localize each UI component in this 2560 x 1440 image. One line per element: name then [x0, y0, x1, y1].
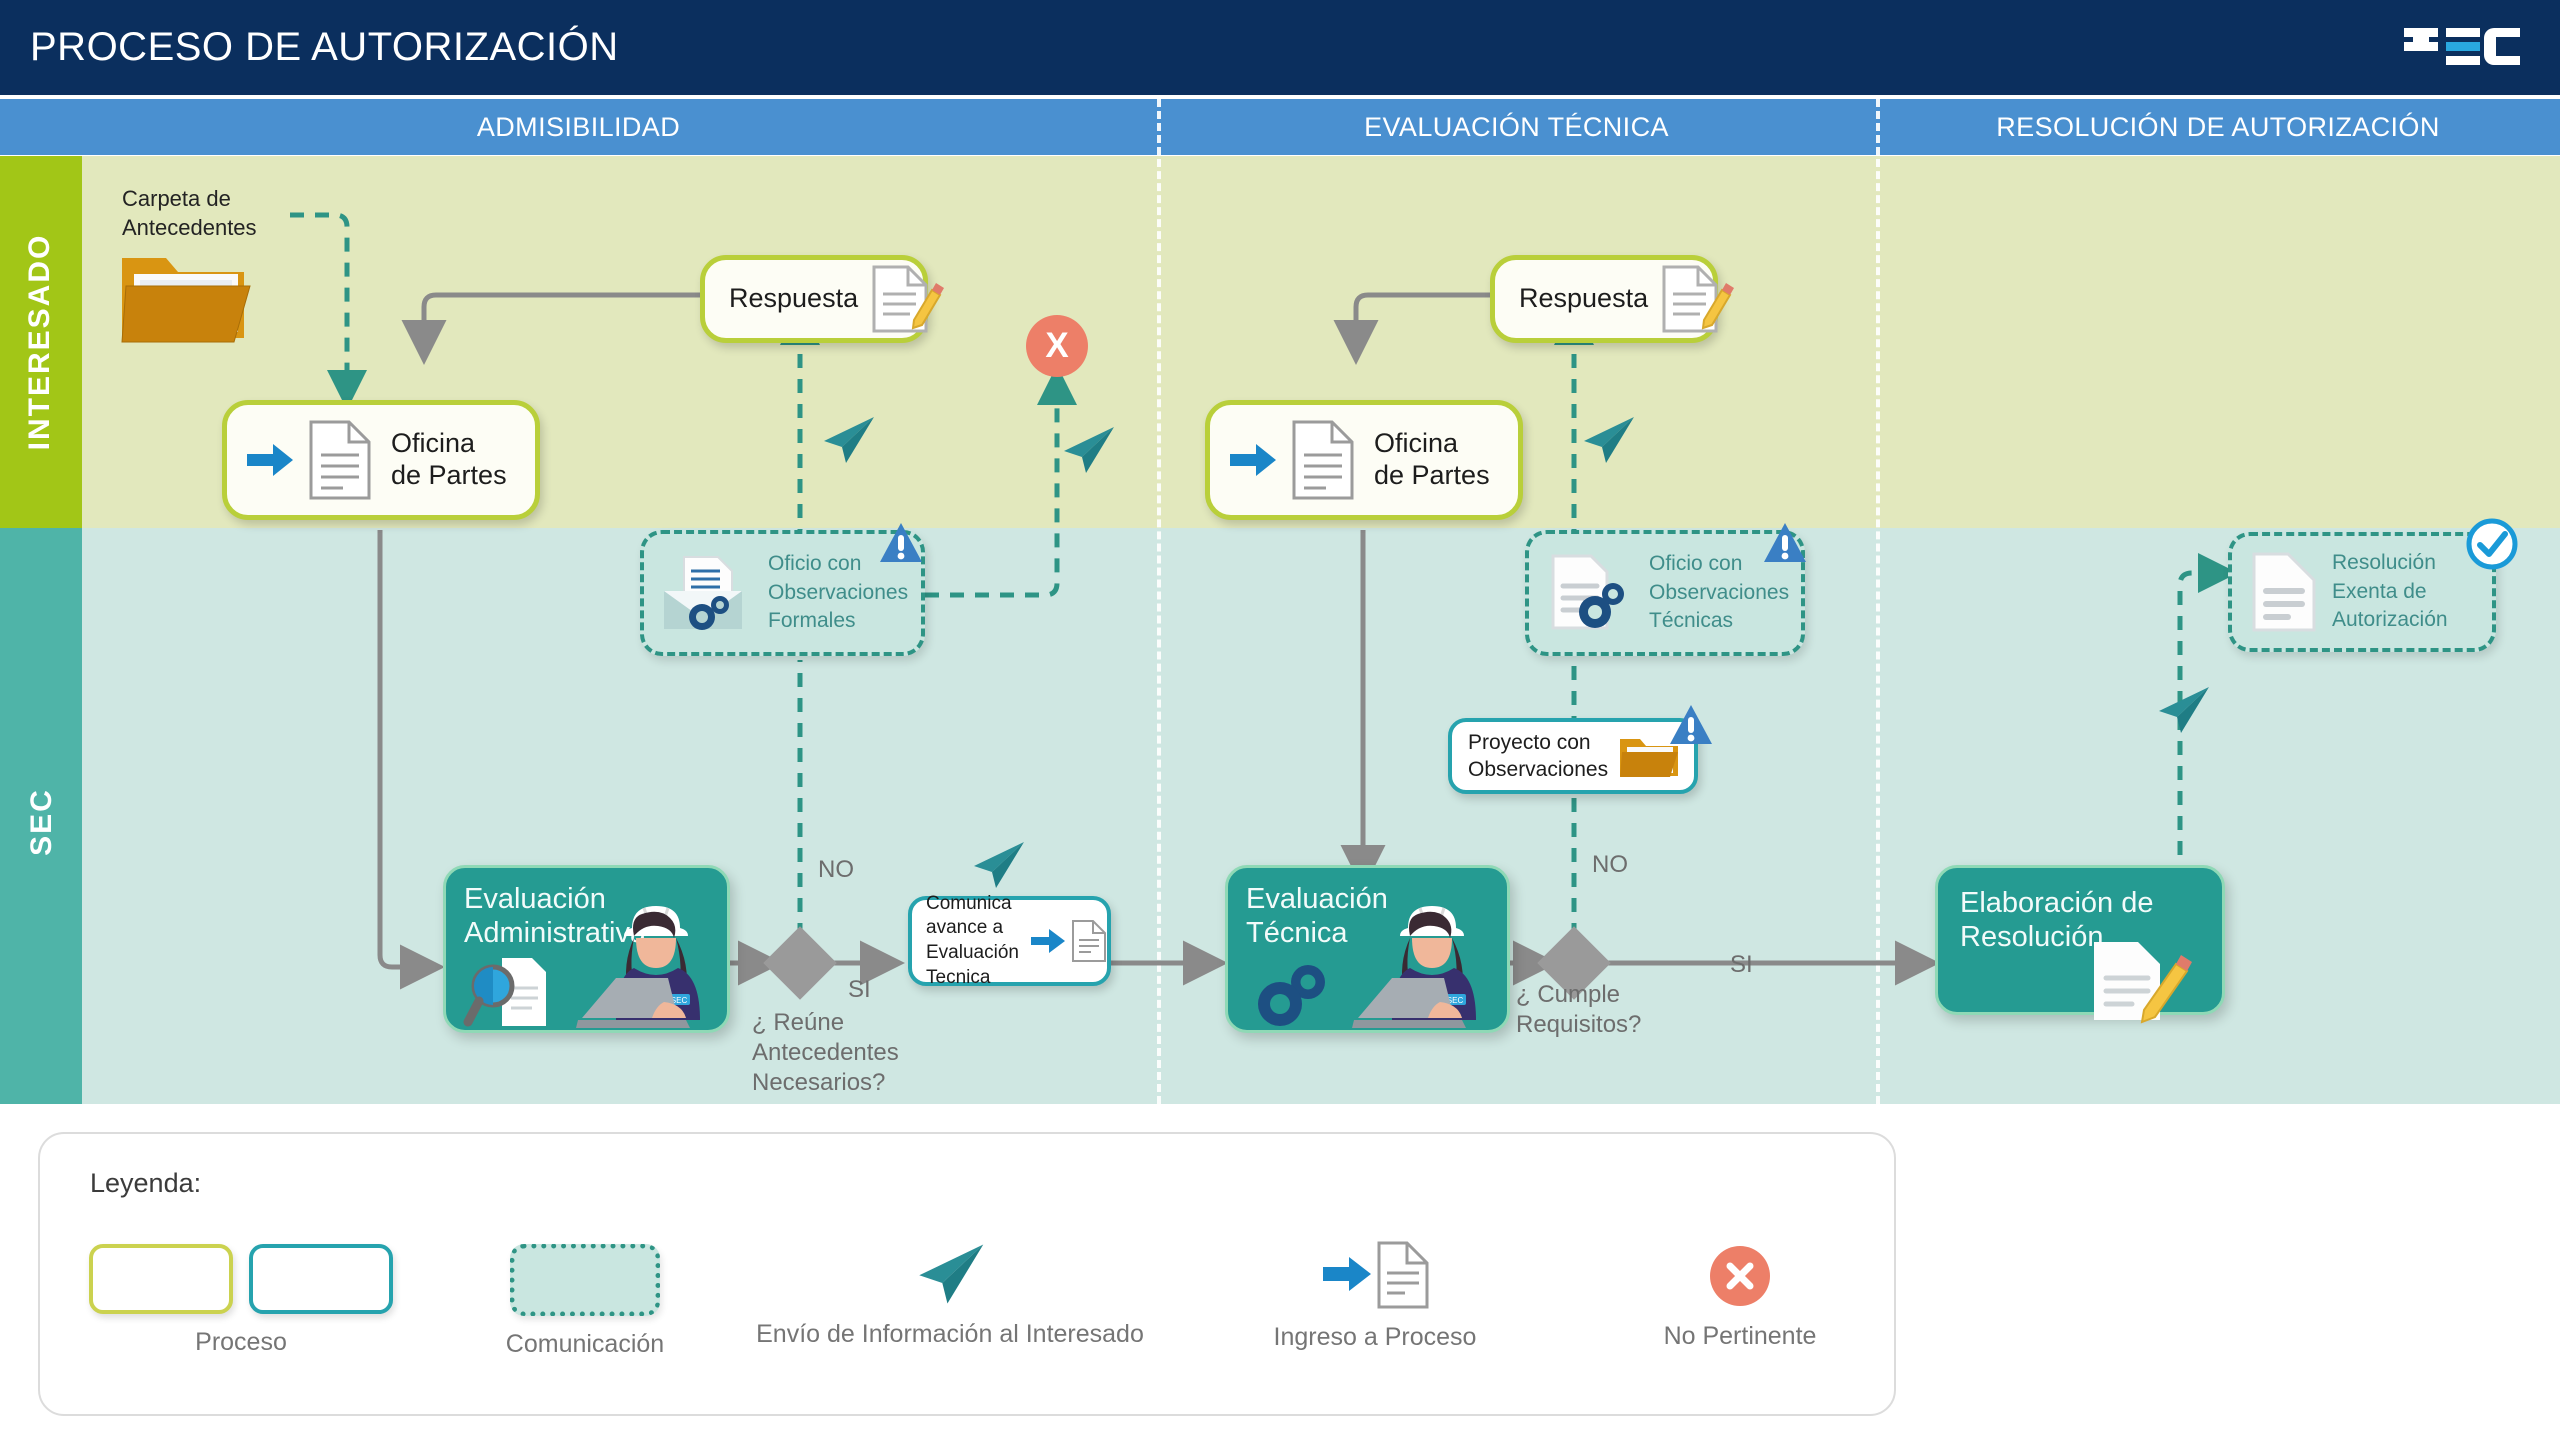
lane-label-interesado: INTERESADO	[23, 192, 57, 492]
decision-2-question: ¿ Cumple Requisitos?	[1516, 980, 1641, 1040]
oficina-de-partes-1[interactable]: Oficina de Partes	[222, 400, 540, 520]
document-icon	[307, 419, 373, 501]
carpeta-caption: Carpeta de Antecedentes	[122, 185, 257, 242]
evaluacion-administrativa[interactable]: Evaluación Administrativa SEC SEC	[443, 865, 730, 1033]
x-circle-icon	[1708, 1244, 1772, 1308]
decision-1-question: ¿ Reúne Antecedentes Necesarios?	[752, 1008, 899, 1098]
arrow-icon	[1031, 927, 1067, 955]
sec-logo-icon	[2402, 20, 2522, 76]
legend-swatch-proceso-green	[89, 1244, 233, 1314]
warning-triangle-icon	[1762, 520, 1808, 566]
document-pencil-icon	[870, 264, 942, 334]
document-pencil-icon	[1660, 264, 1732, 334]
document-icon	[1071, 919, 1107, 963]
proyecto-con-observaciones-label: Proyecto con Observaciones	[1468, 729, 1608, 784]
arrow-icon	[1230, 440, 1278, 480]
legend-caption-comunicacion: Comunicación	[460, 1330, 710, 1359]
paper-plane-icon	[914, 1242, 986, 1306]
folder-icon	[118, 240, 258, 350]
warning-triangle-icon	[1668, 702, 1714, 748]
respuesta-1-label: Respuesta	[729, 283, 858, 315]
legend-title: Leyenda:	[90, 1168, 201, 1199]
lane-label-sec: SEC	[25, 712, 59, 932]
evaluacion-tecnica[interactable]: Evaluación Técnica SEC SEC	[1225, 865, 1510, 1033]
paper-plane-icon	[2155, 685, 2211, 735]
x-circle-icon: X	[1026, 315, 1088, 377]
respuesta-1[interactable]: Respuesta	[700, 255, 928, 343]
title-bar: PROCESO DE AUTORIZACIÓN	[0, 0, 2560, 95]
paper-plane-icon	[1060, 425, 1116, 475]
worker-illustration: SEC SEC	[576, 898, 732, 1030]
respuesta-2-label: Respuesta	[1519, 283, 1648, 315]
phase-divider-2	[1876, 99, 1880, 1104]
decision-1-si-label: SI	[848, 975, 871, 1005]
respuesta-2[interactable]: Respuesta	[1490, 255, 1718, 343]
worker-illustration: SEC SEC	[1352, 898, 1508, 1030]
phase-resolucion: RESOLUCIÓN DE AUTORIZACIÓN	[1876, 99, 2560, 155]
decision-1-no-label: NO	[818, 855, 854, 885]
legend-item-proceso: Proceso	[76, 1244, 406, 1357]
oficina-de-partes-2[interactable]: Oficina de Partes	[1205, 400, 1523, 520]
decision-2-si-label: SI	[1730, 950, 1753, 980]
legend-caption-ingreso: Ingreso a Proceso	[1230, 1323, 1520, 1352]
mail-gears-icon	[658, 551, 758, 635]
check-circle-icon	[2466, 518, 2518, 570]
paper-plane-icon	[820, 415, 876, 465]
warning-triangle-icon	[878, 520, 924, 566]
legend-caption-envio: Envío de Información al Interesado	[740, 1320, 1160, 1349]
phase-header: ADMISIBILIDAD EVALUACIÓN TÉCNICA RESOLUC…	[0, 99, 2560, 155]
arrow-icon	[247, 440, 295, 480]
phase-divider-1	[1157, 99, 1161, 1104]
paper-plane-icon	[1580, 415, 1636, 465]
legend-caption-no-pertinente: No Pertinente	[1620, 1322, 1860, 1351]
decision-2-no-label: NO	[1592, 850, 1628, 880]
magnifier-document-icon	[466, 954, 564, 1030]
legend-item-ingreso: Ingreso a Proceso	[1230, 1239, 1520, 1352]
document-icon	[2248, 549, 2320, 635]
paper-plane-icon	[970, 840, 1026, 890]
arrow-document-icon	[1315, 1239, 1435, 1309]
resolucion-exenta-de-autorizacion[interactable]: Resolución Exenta de Autorización	[2228, 532, 2496, 652]
proyecto-con-observaciones[interactable]: Proyecto con Observaciones	[1448, 718, 1698, 794]
oficina-de-partes-1-label: Oficina de Partes	[391, 428, 507, 492]
document-icon	[1290, 419, 1356, 501]
page-title: PROCESO DE AUTORIZACIÓN	[30, 25, 619, 70]
legend-swatch-comunicacion	[510, 1244, 660, 1316]
legend-swatch-proceso-teal	[249, 1244, 393, 1314]
legend-item-envio: Envío de Información al Interesado	[740, 1242, 1160, 1349]
process-diagram: PROCESO DE AUTORIZACIÓN ADMISIBILIDAD EV…	[0, 0, 2560, 1440]
legend-item-no-pertinente: No Pertinente	[1620, 1244, 1860, 1351]
comunica-avance-box[interactable]: Comunica avance a Evaluación Tecnica	[908, 896, 1111, 986]
document-gears-icon	[1543, 550, 1639, 636]
comunica-avance-label: Comunica avance a Evaluación Tecnica	[926, 892, 1025, 991]
elaboracion-de-resolucion[interactable]: Elaboración de Resolución	[1935, 865, 2225, 1015]
legend-item-comunicacion: Comunicación	[460, 1244, 710, 1359]
resolucion-exenta-label: Resolución Exenta de Autorización	[2332, 549, 2448, 634]
phase-evaluacion-tecnica: EVALUACIÓN TÉCNICA	[1157, 99, 1876, 155]
gears-icon	[1250, 960, 1342, 1028]
oficina-de-partes-2-label: Oficina de Partes	[1374, 428, 1490, 492]
legend-panel: Leyenda: Proceso Comunicación Envío de I…	[38, 1132, 1896, 1416]
legend-caption-proceso: Proceso	[76, 1328, 406, 1357]
phase-admisibilidad: ADMISIBILIDAD	[0, 99, 1157, 155]
document-pencil-icon	[2088, 936, 2192, 1026]
